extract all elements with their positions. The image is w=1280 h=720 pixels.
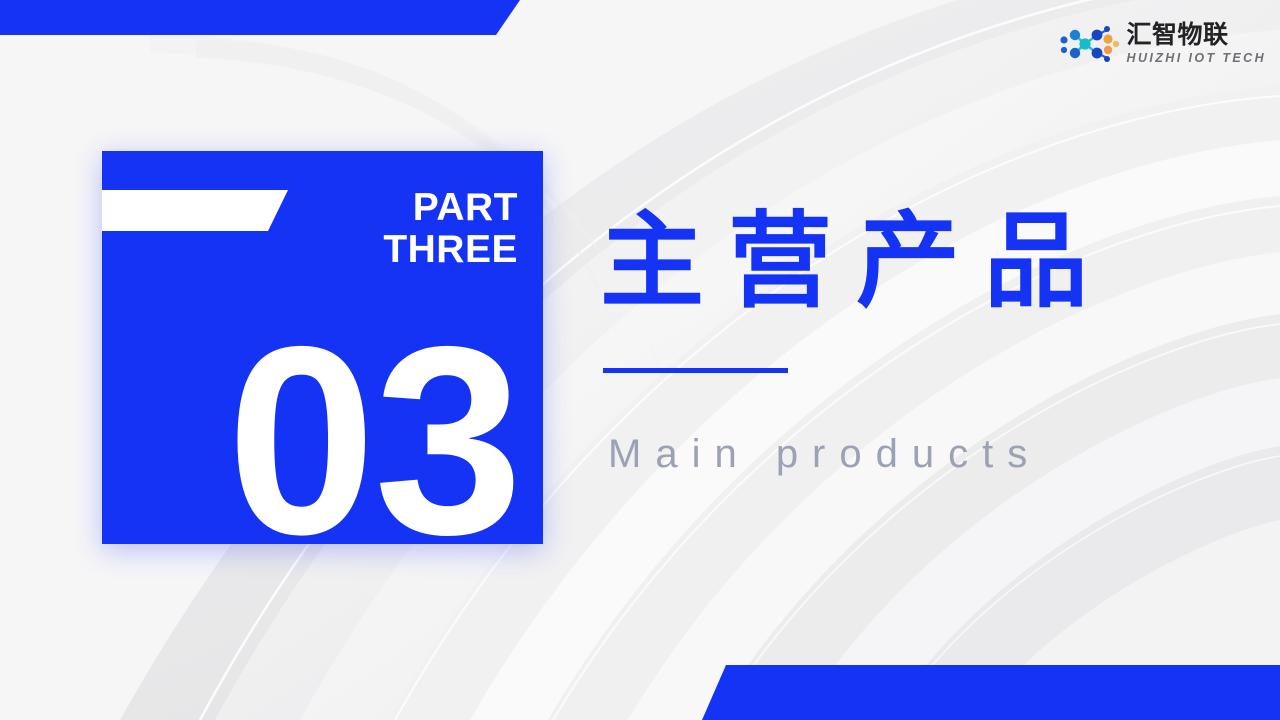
section-number-panel: PART THREE 03: [102, 151, 543, 544]
logo-text-block: 汇智物联 HUIZHI IOT TECH: [1127, 23, 1266, 65]
panel-white-slash-bar: [102, 190, 288, 231]
slide-canvas: PART THREE 03 主营产品 Main products: [0, 0, 1280, 720]
title-underline-rule: [603, 368, 788, 373]
logo-company-name-cn: 汇智物联: [1127, 23, 1266, 48]
part-label-line2: THREE: [288, 229, 518, 271]
bottom-accent-band: [702, 665, 1280, 720]
logo-company-name-en: HUIZHI IOT TECH: [1127, 52, 1266, 65]
section-number: 03: [102, 306, 521, 574]
section-title-cn: 主营产品: [600, 206, 1112, 318]
part-label-line1: PART: [288, 187, 518, 229]
company-logo: 汇智物联 HUIZHI IOT TECH: [1059, 22, 1266, 66]
molecule-network-icon: [1059, 22, 1121, 66]
top-accent-band: [0, 0, 520, 35]
section-subtitle-en: Main products: [608, 432, 1041, 477]
part-label: PART THREE: [288, 187, 518, 270]
